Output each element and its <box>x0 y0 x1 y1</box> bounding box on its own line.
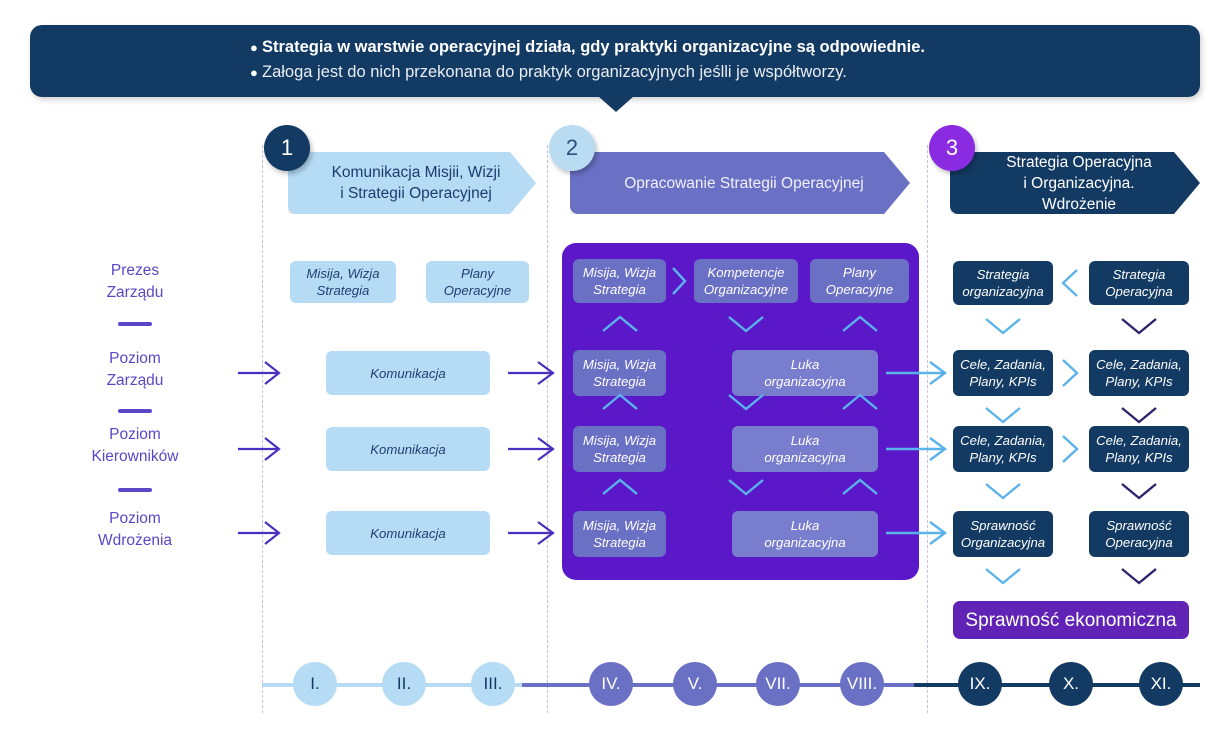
row-label-poziom-zarzadu: Poziom Zarządu <box>30 348 240 392</box>
timeline-step-3[interactable]: III. <box>471 662 515 706</box>
row-label-poziom-wdrozenia: Poziom Wdrożenia <box>30 508 240 552</box>
arrow-label-to-p1-row2 <box>238 438 279 460</box>
chevron-left-p3-top <box>1063 270 1077 296</box>
p2-box-luka-organizacyjna-row2[interactable]: Luka organizacyjna <box>732 426 878 472</box>
timeline-step-2[interactable]: II. <box>382 662 426 706</box>
arrow-label-to-phase1-group <box>238 362 279 544</box>
chevron-down-p3-right-3 <box>1122 484 1156 498</box>
row-divider-2 <box>118 409 152 413</box>
row-label-line-2: Zarządu <box>30 282 240 304</box>
p3-box-cele-zadania-left-1[interactable]: Cele, Zadania, Plany, KPIs <box>953 350 1053 396</box>
p3-box-sprawnosc-ekonomiczna[interactable]: Sprawność ekonomiczna <box>953 601 1189 639</box>
timeline-step-1[interactable]: I. <box>293 662 337 706</box>
chevron-down-p3-left-4 <box>986 569 1020 583</box>
chevron-right-p3-1 <box>1063 360 1077 386</box>
header-callout: ●Strategia w warstwie operacyjnej działa… <box>30 25 1200 97</box>
p1-box-komunikacja-1[interactable]: Komunikacja <box>326 351 490 395</box>
phase-number-1: 1 <box>264 125 310 171</box>
phase-separator-3 <box>927 145 928 713</box>
p3-box-sprawnosc-organizacyjna[interactable]: Sprawność Organizacyjna <box>953 511 1053 557</box>
row-label-line-2: Wdrożenia <box>30 530 240 552</box>
p2-box-misja-wizja-strategia-row2[interactable]: Misija, Wizja Strategia <box>573 426 666 472</box>
p1-box-plany-operacyjne[interactable]: Plany Operacyjne <box>426 261 529 303</box>
bullet-glyph: ● <box>250 60 262 85</box>
chevron-down-p3-left-1 <box>986 319 1020 333</box>
timeline-step-9[interactable]: IX. <box>958 662 1002 706</box>
phase-3-title-line-2: i Organizacyjna. Wdrożenie <box>988 173 1170 215</box>
row-label-line-1: Poziom <box>30 508 240 530</box>
row-label-line-1: Prezes <box>30 260 240 282</box>
phase-number-3: 3 <box>929 125 975 171</box>
p3-box-cele-zadania-left-2[interactable]: Cele, Zadania, Plany, KPIs <box>953 426 1053 472</box>
row-label-line-2: Kierowników <box>30 446 240 468</box>
p2-box-luka-organizacyjna-row1[interactable]: Luka organizacyjna <box>732 350 878 396</box>
timeline-step-10[interactable]: X. <box>1049 662 1093 706</box>
p2-box-kompetencje-organizacyjne[interactable]: Kompetencje Organizacyjne <box>694 259 798 303</box>
p1-box-text: Plany Operacyjne <box>444 265 511 299</box>
arrow-label-to-p1-row1 <box>238 362 279 384</box>
p2-box-misja-wizja-strategia-row3[interactable]: Misija, Wizja Strategia <box>573 511 666 557</box>
phase-2-title-line-1: Opracowanie Strategii Operacyjnej <box>624 173 864 194</box>
p1-box-komunikacja-3[interactable]: Komunikacja <box>326 511 490 555</box>
timeline-step-11[interactable]: XI. <box>1139 662 1183 706</box>
chevron-right-p3-group <box>1063 360 1077 462</box>
phase-1-title: Komunikacja Misjii, Wizji i Strategii Op… <box>332 162 501 204</box>
chevron-right-p3-2 <box>1063 436 1077 462</box>
p1-box-text: Misija, Wizja Strategia <box>306 265 379 299</box>
chevron-down-p3-left-3 <box>986 484 1020 498</box>
row-label-prezes-zarzadu: Prezes Zarządu <box>30 260 240 304</box>
phase-3-title: Strategia Operacyjna i Organizacyjna. Wd… <box>988 152 1170 215</box>
diagram-canvas: ●Strategia w warstwie operacyjnej działa… <box>0 0 1230 732</box>
p2-box-misja-wizja-strategia-top[interactable]: Misija, Wizja Strategia <box>573 259 666 303</box>
phase-number-2: 2 <box>549 125 595 171</box>
phase-3-title-line-1: Strategia Operacyjna <box>988 152 1170 173</box>
timeline-step-5[interactable]: V. <box>673 662 717 706</box>
header-bullet-2-text: Załoga jest do nich przekonana do prakty… <box>262 63 847 81</box>
callout-tail-icon <box>598 96 634 112</box>
phase-banner-3[interactable]: Strategia Operacyjna i Organizacyjna. Wd… <box>950 152 1200 214</box>
p3-box-strategia-operacyjna[interactable]: Strategia Operacyjna <box>1089 261 1189 305</box>
chevron-left-p3-top-1 <box>1063 270 1077 296</box>
chevron-down-p3-right-1 <box>1122 319 1156 333</box>
row-divider-1 <box>118 322 152 326</box>
arrow-label-to-p1-row3 <box>238 522 279 544</box>
phase-separator-2 <box>547 145 548 713</box>
row-label-line-1: Poziom <box>30 424 240 446</box>
chevron-down-p3-right-2 <box>1122 408 1156 422</box>
header-bullet-1-text: Strategia w warstwie operacyjnej działa,… <box>262 38 925 56</box>
phase-2-title: Opracowanie Strategii Operacyjnej <box>624 173 864 194</box>
header-bullet-1: ●Strategia w warstwie operacyjnej działa… <box>60 35 1170 60</box>
phase-1-title-line-2: i Strategii Operacyjnej <box>332 183 501 204</box>
phase-1-title-line-1: Komunikacja Misjii, Wizji <box>332 162 501 183</box>
p1-box-komunikacja-2[interactable]: Komunikacja <box>326 427 490 471</box>
p2-box-plany-operacyjne[interactable]: Plany Operacyjne <box>810 259 909 303</box>
chevron-down-p3-left-2 <box>986 408 1020 422</box>
chevron-down-p3-right-4 <box>1122 569 1156 583</box>
p3-box-cele-zadania-right-2[interactable]: Cele, Zadania, Plany, KPIs <box>1089 426 1189 472</box>
p3-box-sprawnosc-operacyjna[interactable]: Sprawność Operacyjna <box>1089 511 1189 557</box>
bullet-glyph: ● <box>250 35 262 60</box>
p3-box-strategia-organizacyjna[interactable]: Strategia organizacyjna <box>953 261 1053 305</box>
header-bullet-2: ●Załoga jest do nich przekonana do prakt… <box>60 60 1170 85</box>
row-label-poziom-kierownikow: Poziom Kierowników <box>30 424 240 468</box>
timeline-step-8[interactable]: VIII. <box>840 662 884 706</box>
p2-box-misja-wizja-strategia-row1[interactable]: Misija, Wizja Strategia <box>573 350 666 396</box>
phase-separator-1 <box>262 145 263 713</box>
phase-banner-1[interactable]: Komunikacja Misjii, Wizji i Strategii Op… <box>288 152 536 214</box>
p1-box-misja-wizja-strategia[interactable]: Misija, Wizja Strategia <box>290 261 396 303</box>
p3-box-cele-zadania-right-1[interactable]: Cele, Zadania, Plany, KPIs <box>1089 350 1189 396</box>
row-label-line-1: Poziom <box>30 348 240 370</box>
phase-banner-2[interactable]: Opracowanie Strategii Operacyjnej <box>570 152 910 214</box>
row-label-line-2: Zarządu <box>30 370 240 392</box>
timeline-step-4[interactable]: IV. <box>589 662 633 706</box>
row-divider-3 <box>118 488 152 492</box>
p2-box-luka-organizacyjna-row3[interactable]: Luka organizacyjna <box>732 511 878 557</box>
timeline-step-7[interactable]: VII. <box>756 662 800 706</box>
